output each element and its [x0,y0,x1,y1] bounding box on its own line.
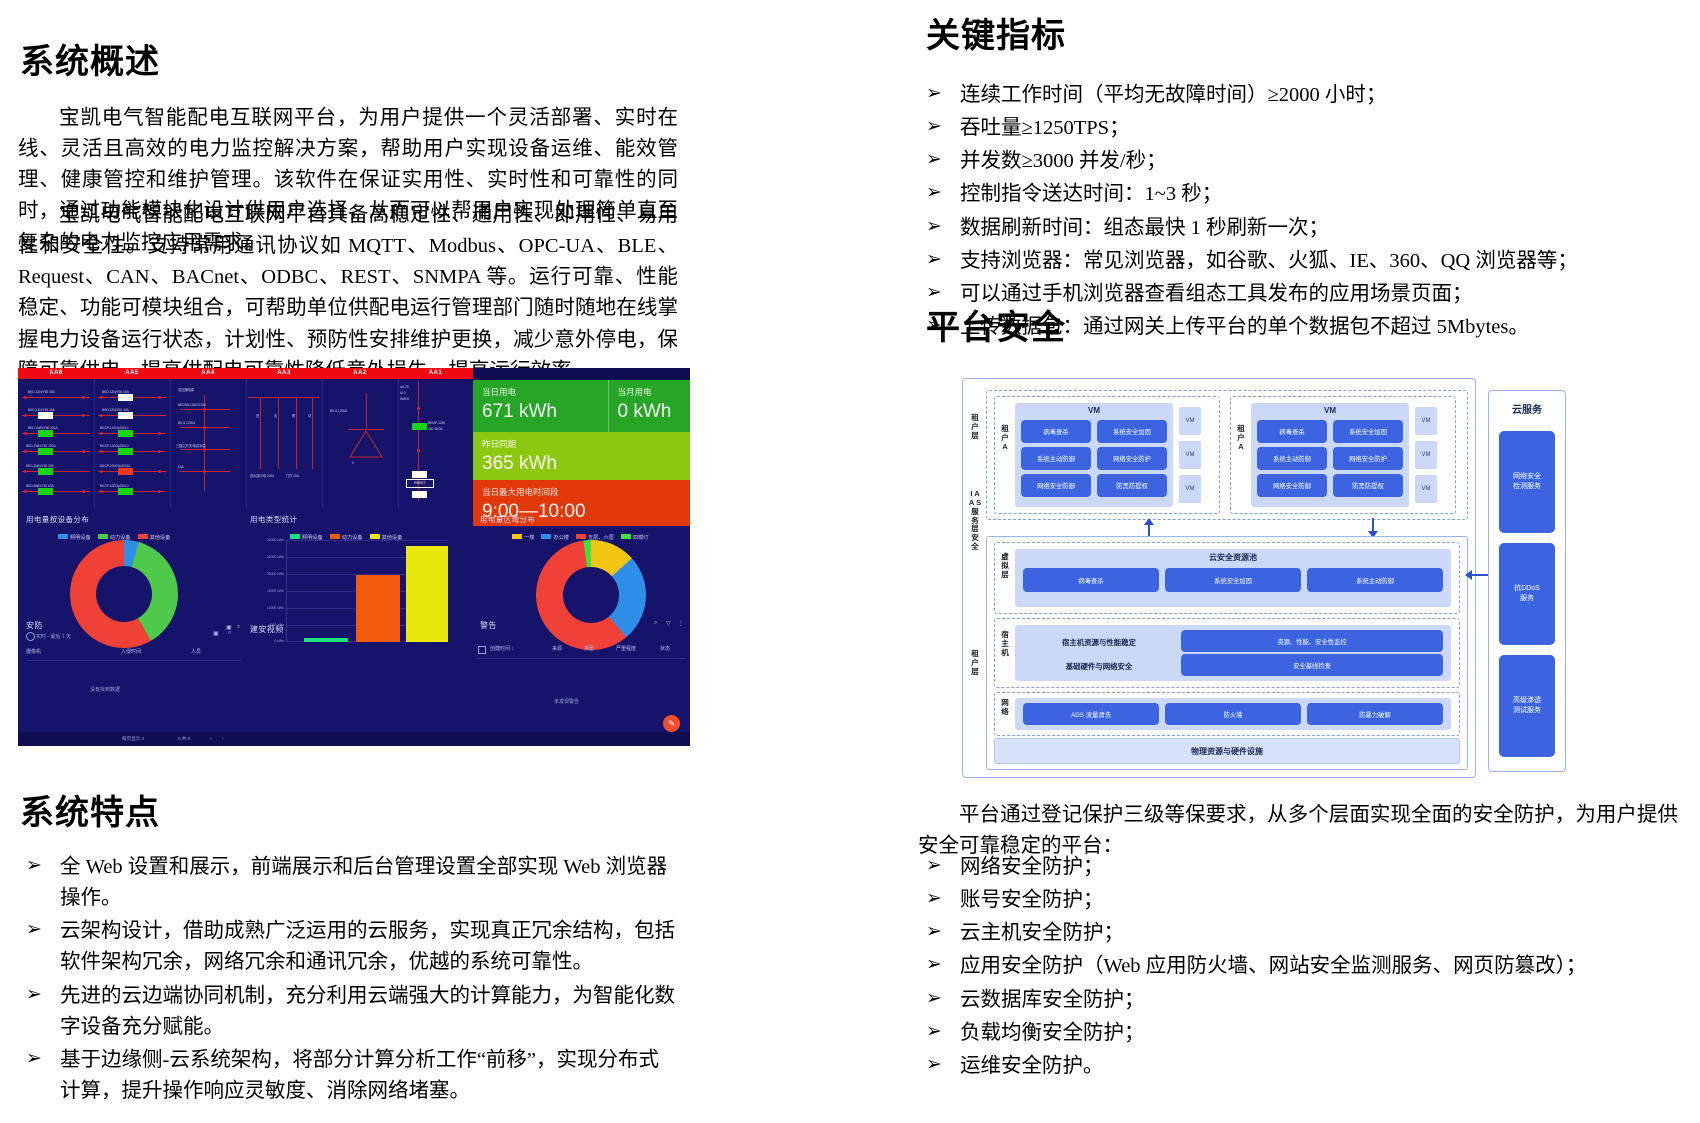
pool-title: 云安全资源池 [1015,552,1451,563]
kpi-value: 671 kWh [482,401,599,423]
cloud-service-chip[interactable]: 高级渗透测试服务 [1499,655,1555,757]
virtual-layer-box: 虚 拟 层 云安全资源池 病毒查杀 系统安全加固 系统主动防御 [994,542,1460,614]
column-header: 摄像机 [26,648,121,655]
dashboard-screenshot: AA6 BKD-1ZN/Y50 40A BKD-1ZN/Y50 40A BKD-… [18,368,690,746]
arrow-bullet-icon: ➢ [26,852,42,881]
kpi-value: 0 kWh [618,401,681,423]
arrow-bullet-icon: ➢ [926,246,942,275]
kpi-label: 昨日同期 [482,438,681,450]
tenant-layer-label-bottom: 租 户 层 [968,650,982,677]
feeder-diagram: BKD-1ZN/Y50 40A BKD-1ZN/Y50 40A BKD-1WN/… [18,379,94,508]
vm-node[interactable]: VM [1415,407,1437,435]
feeder-column[interactable]: AA1 BKMP-1250 630~800A UA 20 IA 0 kWh/5 … [398,368,473,508]
legend-item: 照明设备 [58,526,91,544]
list-item: ➢云主机安全防护； [918,918,1698,949]
donut-chart-area-distribution [536,540,646,650]
feeder-header: AA3 [246,368,322,379]
bar-chart-usage-type: 30000 kWh 25000 kWh 20000 kWh 15000 kWh … [286,540,448,642]
panel-title-video: 建安视频 [250,624,284,635]
legend-item: 办公楼 [541,526,569,544]
feeder-header: AA5 [94,368,170,379]
features-list: ➢全 Web 设置和展示，前端展示和后台管理设置全部实现 Web 浏览器操作。 … [18,852,678,1109]
arrow-bullet-icon: ➢ [926,1051,942,1080]
security-chip[interactable]: 系统安全加固 [1165,568,1301,592]
cloud-service-label: 网络安全检测服务 [1513,472,1541,492]
column-header: 创建时间 ↓ [490,645,552,652]
kpi-tile: 昨日同期 365 kWh [473,432,690,480]
arrow-bullet-icon: ➢ [926,852,942,881]
host-layer-label: 宿 主 机 [998,631,1012,658]
kpi-label: 当日用电 [482,386,599,398]
iaas-layer-label: I A A S 服 务 层 安 全 [968,490,982,552]
kpi-tile: 当月用电 0 kWh [608,380,690,432]
cloud-service-label: 高级渗透测试服务 [1513,696,1541,716]
cloud-service-chip[interactable]: 抗DDoS服务 [1499,543,1555,645]
panel-title-alarm: 警告 [480,620,497,631]
list-item: ➢应用安全防护（Web 应用防火墙、网站安全监测服务、网页防篡改）； [918,951,1698,982]
virtual-layer-label: 虚 拟 层 [998,553,1012,580]
security-chip[interactable]: 系统主动防御 [1307,568,1443,592]
clock-icon [26,632,35,641]
section-heading-metrics: 关键指标 [926,8,1066,57]
host-layer-box: 宿 主 机 宿主机资源与性能稳定 基础硬件与网络安全 资源、性能、安全性监控 安… [994,618,1460,688]
security-list: ➢网络安全防护； ➢账号安全防护； ➢云主机安全防护； ➢应用安全防护（Web … [918,852,1698,1084]
table-header-row: 摄像机 入侵时间 人员 [26,648,241,655]
security-chip[interactable]: 防暴力破解 [1307,703,1443,725]
feeder-diagram: 进 出 照 动 进水接中电 100A 门厅 20A [246,379,322,508]
kpi-label: 当月用电 [618,386,681,398]
security-chip[interactable]: 防火墙 [1165,703,1301,725]
arrow-bullet-icon: ➢ [926,80,942,109]
feeder-header: AA1 [398,368,473,379]
search-icon[interactable]: ⌕ [237,624,240,631]
alarm-table: 创建时间 ↓ 来源 类型 严重程度 状态 [490,645,690,652]
cloud-service-chip[interactable]: 网络安全检测服务 [1499,431,1555,533]
host-label: 基础硬件与网络安全 [1023,655,1175,677]
chart-title-device-distribution: 用电量按设备分布 [26,514,89,525]
host-label: 宿主机资源与性能稳定 [1023,631,1175,653]
security-chip[interactable]: 网络安全防御 [1021,474,1091,497]
tenant-a-right-box: 租 户 A VM 病毒查杀 系统安全加固 系统主动防御 网络安全防护 网络安全防… [1230,396,1456,514]
search-icon[interactable]: ⌕ [654,620,657,627]
arrow-left-head [1465,570,1472,580]
security-chip[interactable]: 病毒查杀 [1021,420,1091,443]
chart-title-area-distribution: 用电量区域分布 [480,514,535,525]
column-header: 人员 [191,648,241,655]
panel-title-security: 安防 [26,620,43,631]
prev-page-button[interactable]: ‹ [210,736,212,741]
feeder-header: AA6 [18,368,94,379]
vm-node[interactable]: VM [1415,475,1437,503]
vm-group: VM 病毒查杀 系统安全加固 系统主动防御 网络安全防护 网络安全防御 防黑防提… [1015,403,1173,507]
arrow-bullet-icon: ➢ [926,885,942,914]
kpi-tiles: 当日用电 671 kWh 当月用电 0 kWh 昨日同期 365 kWh [473,380,690,526]
vm-node[interactable]: VM [1179,407,1201,435]
kpi-tile: 当日用电 671 kWh [473,380,608,432]
donut-chart-device-distribution [70,540,178,648]
vm-title: VM [1251,406,1409,415]
camera-icon[interactable]: ▣ [226,624,232,631]
feeder-column[interactable]: AA6 BKD-1ZN/Y50 40A BKD-1ZN/Y50 40A BKD-… [18,368,95,508]
list-item: ➢云架构设计，借助成熟广泛运用的云服务，实现真正冗余结构，包括软件架构冗余，网络… [18,916,678,978]
page-count-label: 0 共 0 [178,736,190,742]
camera-icon[interactable]: ▣ [213,630,219,637]
column-header: 严重程度 [616,645,660,652]
security-chip[interactable]: 网络安全防护 [1333,447,1403,470]
list-item: ➢负载均衡安全防护； [918,1018,1698,1049]
feeder-diagram: BKD-1ZN/Y50 40A BKD-1ZN/Y50 40A BKGP-100… [94,379,170,508]
arrow-bullet-icon: ➢ [926,918,942,947]
bar [304,638,348,642]
column-header: 来源 [552,645,584,652]
next-page-button[interactable]: › [222,736,224,741]
legend-item: 其他设备 [138,526,171,544]
overview-paragraph-2: 宝凯电气智能配电互联网平台具备高稳定性、通用性、即用性、易用性和安全性。支持常用… [18,200,678,387]
page-size-label: 每页显示 2 [122,736,144,742]
menu-icon[interactable]: ⋮ [678,620,684,627]
list-item: ➢数据刷新时间：组态最快 1 秒刷新一次； [918,213,1658,244]
cloud-services-column: 云服务 网络安全检测服务 抗DDoS服务 高级渗透测试服务 [1488,390,1566,772]
list-item: ➢连续工作时间（平均无故障时间）≥2000 小时； [918,80,1658,111]
list-item: ➢支持浏览器：常见浏览器，如谷歌、火狐、IE、360、QQ 浏览器等； [918,246,1658,277]
column-header: 入侵时间 [121,648,191,655]
list-item: ➢云数据库安全防护； [918,985,1698,1016]
arrow-bullet-icon: ➢ [26,981,42,1010]
vm-node[interactable]: VM [1179,441,1201,469]
list-item: ➢账号安全防护； [918,885,1698,916]
legend-item: 四楼灯 [621,526,649,544]
dashboard-footer: 每页显示 2 0 共 0 ‹ › [18,732,690,746]
security-table: 摄像机 入侵时间 人员 [26,648,241,655]
security-chip[interactable]: 病毒查杀 [1023,568,1159,592]
security-chip[interactable]: 系统主动防御 [1021,447,1091,470]
arrow-bullet-icon: ➢ [926,113,942,142]
security-architecture-diagram: I A A S 服 务 层 安 全 租 户 层 租 户 层 租 户 A VM 病… [952,372,1572,784]
document-page: 系统概述 宝凯电气智能配电互联网平台，为用户提供一个灵活部署、实时在线、灵活且高… [0,0,1700,1123]
list-item: ➢先进的云边端协同机制，充分利用云端强大的计算能力，为智能化数字设备充分赋能。 [18,981,678,1043]
kpi-value: 365 kWh [482,453,681,475]
network-band: ADS 流量清洗 防火墙 防暴力破解 [1015,698,1451,730]
section-heading-overview: 系统概述 [20,34,160,83]
network-layer-box: 网 络 ADS 流量清洗 防火墙 防暴力破解 [994,692,1460,736]
feeder-header: AA2 [322,368,398,379]
edit-fab-button[interactable]: ✎ [663,715,680,732]
select-all-checkbox[interactable] [478,646,486,654]
list-item: ➢网络安全防护； [918,852,1698,883]
security-panel-subtitle: 实时 - 最后 1 天 [36,633,71,640]
tenant-a-label: 租 户 A [998,425,1012,452]
list-item: ➢全 Web 设置和展示，前端展示和后台管理设置全部实现 Web 浏览器操作。 [18,852,678,914]
list-item: ➢并发数≥3000 并发/秒； [918,146,1658,177]
security-chip[interactable]: ADS 流量清洗 [1023,703,1159,725]
section-heading-security: 平台安全 [926,300,1066,349]
security-chip[interactable]: 系统安全加固 [1097,420,1167,443]
arrow-bullet-icon: ➢ [26,1045,42,1074]
column-header: 类型 [584,645,616,652]
security-chip[interactable]: 网络安全防护 [1097,447,1167,470]
security-chip[interactable]: 安全基线检查 [1181,654,1443,676]
security-chip[interactable]: 系统安全加固 [1333,420,1403,443]
arrow-bullet-icon: ➢ [26,916,42,945]
arrow-bullet-icon: ➢ [926,985,942,1014]
left-column: 系统概述 宝凯电气智能配电互联网平台，为用户提供一个灵活部署、实时在线、灵活且高… [0,0,860,1123]
security-chip[interactable]: 防黑防提权 [1097,474,1167,497]
cloud-service-label: 抗DDoS服务 [1514,584,1540,604]
cloud-services-title: 云服务 [1489,401,1565,416]
list-item: ➢基于边缘侧-云系统架构，将部分计算分析工作“前移”，实现分布式计算，提升操作响… [18,1045,678,1107]
filter-icon[interactable]: ▽ [666,620,671,627]
search-icon[interactable]: ⌕ [228,630,231,637]
list-item: ➢运维安全防护。 [918,1051,1698,1082]
arrow-bullet-icon: ➢ [926,179,942,208]
feeder-column[interactable]: AA4 变压器电源 BKDSB-1250/3 200 BK-6 1250A 三路… [170,368,247,508]
arrow-left-line [1472,574,1488,576]
arrow-bullet-icon: ➢ [926,213,942,242]
physical-resources-band: 物理资源与硬件设施 [994,738,1460,764]
tenant-layer-label: 租 户 层 [968,414,982,441]
bar [406,546,448,642]
bar [356,575,400,642]
vm-node[interactable]: VM [1415,441,1437,469]
host-band: 宿主机资源与性能稳定 基础硬件与网络安全 资源、性能、安全性监控 安全基线检查 [1015,625,1451,681]
vm-group: VM 病毒查杀 系统安全加固 系统主动防御 网络安全防护 网络安全防御 防黑防提… [1251,403,1409,507]
tenant-a-label: 租 户 A [1234,425,1248,452]
vm-title: VM [1015,406,1173,415]
security-chip[interactable]: 网络安全防御 [1257,474,1327,497]
arrow-up-head [1144,518,1154,525]
list-item: ➢吞吐量≥1250TPS； [918,113,1658,144]
cloud-security-pool: 云安全资源池 病毒查杀 系统安全加固 系统主动防御 [1015,549,1451,607]
feeder-diagram: BKMP-1250 630~800A UA 20 IA 0 kWh/5 RESE… [398,379,473,508]
security-chip[interactable]: 资源、性能、安全性监控 [1181,630,1443,652]
security-chip[interactable]: 防黑防提权 [1333,474,1403,497]
legend-item: 一楼 [512,526,534,544]
arrow-bullet-icon: ➢ [926,146,942,175]
feeder-column[interactable]: AA3 进 出 照 动 进水接中电 100A 门厅 20A [246,368,323,508]
list-item: ➢控制指令送达时间：1~3 秒； [918,179,1658,210]
table-header-row: 创建时间 ↓ 来源 类型 严重程度 状态 [490,645,690,652]
kpi-label: 当日最大用电时间段 [482,486,681,498]
vm-node[interactable]: VM [1179,475,1201,503]
security-chip[interactable]: 病毒查杀 [1257,420,1327,443]
feeder-diagram: 变压器电源 BKDSB-1250/3 200 BK-6 1250A 三路主开关/… [170,379,246,508]
alarm-empty-text: 未发现警告 [554,698,579,705]
arrow-bullet-icon: ➢ [926,1018,942,1047]
tenant-a-left-box: 租 户 A VM 病毒查杀 系统安全加固 系统主动防御 网络安全防护 网络安全防… [994,396,1220,514]
feeder-column[interactable]: AA5 BKD-1ZN/Y50 40A BKD-1ZN/Y50 40A [94,368,171,508]
feeder-column[interactable]: AA2 BK-6 1250A 0 [322,368,399,508]
column-header: 状态 [660,645,690,652]
arrow-bullet-icon: ➢ [926,951,942,980]
single-line-diagram: AA6 BKD-1ZN/Y50 40A BKD-1ZN/Y50 40A BKD-… [18,368,473,508]
security-empty-text: 没有找到数据 [90,686,120,693]
feeder-diagram: BK-6 1250A 0 [322,379,398,508]
security-chip[interactable]: 系统主动防御 [1257,447,1327,470]
right-column: 关键指标 ➢连续工作时间（平均无故障时间）≥2000 小时； ➢吞吐量≥1250… [860,0,1700,1123]
network-layer-label: 网 络 [998,699,1012,717]
feeder-header: AA4 [170,368,246,379]
section-heading-features: 系统特点 [20,785,160,834]
chart-title-usage-type: 用电类型统计 [250,514,297,525]
